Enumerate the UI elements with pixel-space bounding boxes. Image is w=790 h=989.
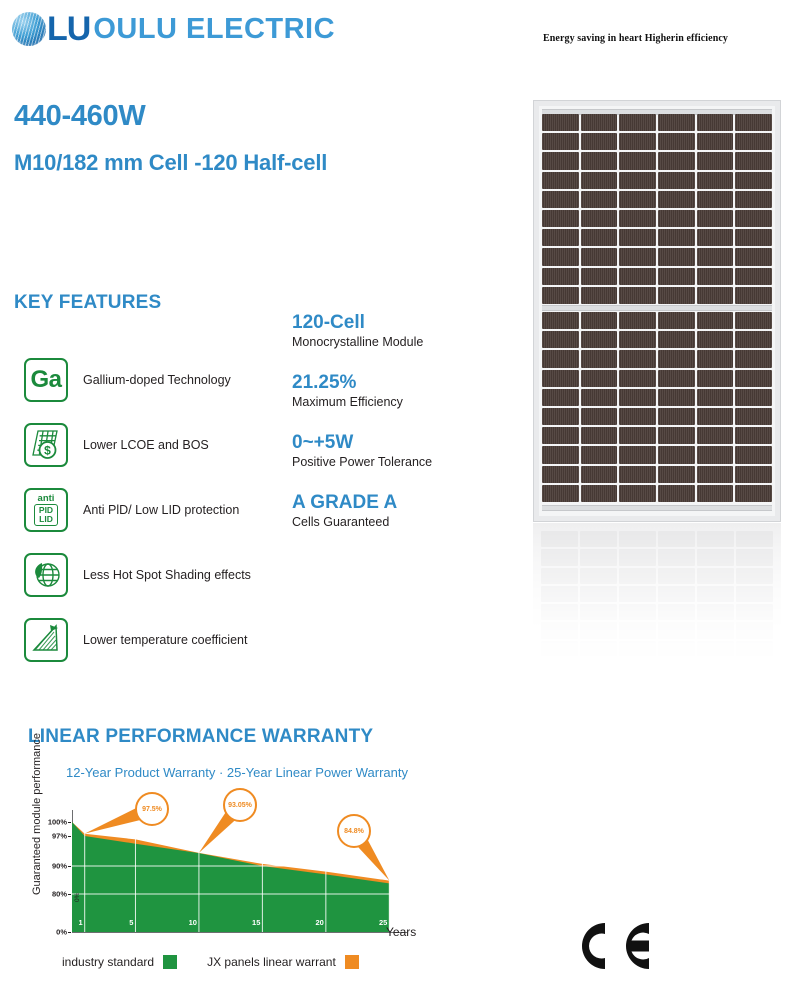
- solar-cell: [581, 229, 618, 246]
- solar-cell: [542, 446, 579, 463]
- solar-cell: [619, 191, 656, 208]
- solar-cell: [542, 114, 579, 131]
- solar-cell: [736, 549, 773, 565]
- chart-x-tick-label: 10: [189, 918, 197, 927]
- solar-cell: [619, 549, 656, 565]
- globe-leaf-icon: [24, 553, 68, 597]
- solar-cell: [658, 427, 695, 444]
- solar-cell: [697, 531, 734, 547]
- solar-cell: [735, 408, 772, 425]
- chart-y-tick-mark: [68, 822, 71, 823]
- solar-cell: [581, 485, 618, 502]
- solar-cell: [658, 172, 695, 189]
- solar-cell: [581, 312, 618, 329]
- solar-cell: [735, 191, 772, 208]
- solar-cell: [697, 268, 734, 285]
- spec-cell-count: 120-Cell Monocrystalline Module: [292, 312, 492, 351]
- solar-cell: [619, 210, 656, 227]
- anti-label: anti: [38, 494, 55, 504]
- warranty-chart: Guaranteed module performance 0%80%90%97…: [24, 796, 434, 956]
- legend-item-jx-warrant: JX panels linear warrant: [207, 955, 359, 969]
- feature-anti-pid: anti PID LID Anti PlD/ Low LID protectio…: [24, 488, 294, 532]
- chart-y-tick-mark: [68, 894, 71, 895]
- panel-dollar-icon: $: [24, 423, 68, 467]
- solar-cell: [735, 331, 772, 348]
- chart-y-tick-label: 0%: [56, 928, 67, 937]
- feature-hot-spot: Less Hot Spot Shading effects: [24, 553, 294, 597]
- solar-cell: [658, 312, 695, 329]
- solar-cell: [697, 427, 734, 444]
- product-cell-spec: M10/182 mm Cell -120 Half-cell: [14, 150, 327, 176]
- solar-cell: [658, 568, 695, 584]
- solar-cell: [735, 466, 772, 483]
- spec-value: 21.25%: [292, 372, 492, 394]
- solar-cell: [697, 191, 734, 208]
- solar-cell: [619, 466, 656, 483]
- solar-cell: [542, 408, 579, 425]
- solar-cell: [619, 229, 656, 246]
- feature-temp-coefficient: Lower temperature coefficient: [24, 618, 294, 662]
- key-features-heading: KEY FEATURES: [14, 292, 161, 314]
- solar-cell: [581, 331, 618, 348]
- feature-label: Gallium-doped Technology: [83, 373, 231, 387]
- solar-cell: [658, 229, 695, 246]
- solar-cell: [736, 586, 773, 602]
- chart-legend: industry standard JX panels linear warra…: [62, 955, 389, 969]
- solar-cell: [697, 549, 734, 565]
- solar-cell: [697, 229, 734, 246]
- legend-item-industry-standard: industry standard: [62, 955, 177, 969]
- solar-cell: [658, 604, 695, 620]
- gallium-ga-icon: Ga: [24, 358, 68, 402]
- spec-cell-grade: A GRADE A Cells Guaranteed: [292, 492, 492, 531]
- solar-cell: [658, 622, 695, 638]
- ce-mark: [575, 920, 655, 972]
- solar-cell: [697, 586, 734, 602]
- solar-cell: [542, 287, 579, 304]
- solar-cell: [697, 152, 734, 169]
- solar-cell: [697, 287, 734, 304]
- spec-value: 0~+5W: [292, 432, 492, 454]
- solar-cell: [542, 312, 579, 329]
- solar-cell: [697, 466, 734, 483]
- solar-cell: [581, 350, 618, 367]
- solar-cell: [542, 152, 579, 169]
- chart-y-tick-label: 90%: [52, 862, 67, 871]
- solar-cell: [581, 466, 618, 483]
- solar-cell: [581, 287, 618, 304]
- solar-cell: [697, 133, 734, 150]
- product-power-range: 440-460W: [14, 100, 145, 133]
- logo-company-name: OULU ELECTRIC: [93, 12, 335, 46]
- legend-label: industry standard: [62, 955, 154, 969]
- solar-cell: [619, 370, 656, 387]
- solar-cell: [580, 568, 617, 584]
- solar-cell: [658, 191, 695, 208]
- solar-cell: [542, 248, 579, 265]
- solar-cell: [658, 586, 695, 602]
- solar-cell: [619, 331, 656, 348]
- solar-cell: [697, 248, 734, 265]
- solar-cell: [619, 641, 656, 657]
- solar-cell: [581, 152, 618, 169]
- solar-cell: [541, 531, 578, 547]
- solar-cell: [697, 350, 734, 367]
- panel-cell-grid-bottom: [542, 312, 772, 502]
- solar-cell: [697, 312, 734, 329]
- solar-cell: [697, 114, 734, 131]
- solar-cell: [658, 549, 695, 565]
- spec-value: A GRADE A: [292, 492, 492, 514]
- solar-cell: [619, 248, 656, 265]
- solar-cell: [735, 133, 772, 150]
- solar-cell: [580, 531, 617, 547]
- solar-cell: [658, 287, 695, 304]
- chart-x-tick-label: 20: [316, 918, 324, 927]
- chart-y-tick-label: 80%: [52, 890, 67, 899]
- solar-cell: [658, 641, 695, 657]
- chart-x-tick-label: 5: [129, 918, 133, 927]
- solar-cell: [619, 531, 656, 547]
- solar-cell: [619, 172, 656, 189]
- solar-cell: [542, 172, 579, 189]
- solar-cell: [658, 370, 695, 387]
- solar-cell: [735, 350, 772, 367]
- solar-cell: [542, 210, 579, 227]
- legend-swatch: [345, 955, 359, 969]
- solar-cell: [619, 114, 656, 131]
- chart-y-axis-title: Guaranteed module performance: [31, 745, 43, 895]
- brand-logo: LU OULU ELECTRIC: [12, 12, 335, 46]
- solar-cell: [697, 172, 734, 189]
- solar-cell: [697, 568, 734, 584]
- panel-busbar-mid: [542, 305, 772, 311]
- solar-cell: [697, 604, 734, 620]
- solar-cell: [581, 427, 618, 444]
- solar-cell: [542, 370, 579, 387]
- temperature-coefficient-icon: [24, 618, 68, 662]
- solar-cell: [658, 152, 695, 169]
- solar-cell: [619, 586, 656, 602]
- solar-cell: [619, 568, 656, 584]
- solar-cell: [658, 408, 695, 425]
- solar-cell: [541, 586, 578, 602]
- solar-cell: [542, 268, 579, 285]
- solar-cell: [736, 622, 773, 638]
- company-tagline: Energy saving in heart Higherin efficien…: [543, 33, 783, 44]
- solar-cell: [735, 485, 772, 502]
- solar-cell: [658, 248, 695, 265]
- spec-power-tolerance: 0~+5W Positive Power Tolerance: [292, 432, 492, 471]
- solar-cell: [658, 531, 695, 547]
- feature-label: Lower temperature coefficient: [83, 633, 247, 647]
- solar-cell: [580, 622, 617, 638]
- spec-label: Monocrystalline Module: [292, 334, 492, 351]
- solar-cell: [542, 229, 579, 246]
- solar-cell: [619, 427, 656, 444]
- solar-cell: [658, 485, 695, 502]
- solar-cell: [581, 389, 618, 406]
- key-features-list: Ga Gallium-doped Technology $ Lower LCOE…: [24, 358, 294, 683]
- solar-cell: [581, 268, 618, 285]
- chart-y-tick-mark: [68, 866, 71, 867]
- solar-cell: [735, 312, 772, 329]
- solar-cell: [735, 370, 772, 387]
- anti-pid-lid-icon: anti PID LID: [24, 488, 68, 532]
- globe-sphere-icon: [12, 12, 46, 46]
- legend-label: JX panels linear warrant: [207, 955, 336, 969]
- chart-x-zero-note: 0%: [74, 893, 81, 902]
- solar-cell: [697, 370, 734, 387]
- solar-cell: [581, 446, 618, 463]
- lid-label: LID: [39, 515, 53, 524]
- panel-reflection: [533, 523, 781, 663]
- solar-cell: [697, 408, 734, 425]
- solar-cell: [581, 191, 618, 208]
- solar-cell: [619, 446, 656, 463]
- solar-cell: [580, 641, 617, 657]
- chart-x-axis-line: [72, 932, 407, 933]
- solar-cell: [581, 408, 618, 425]
- solar-cell: [619, 485, 656, 502]
- solar-cell: [542, 191, 579, 208]
- solar-cell: [697, 210, 734, 227]
- solar-cell: [736, 568, 773, 584]
- chart-annotation-bubble: 93.05%: [223, 788, 257, 822]
- feature-lcoe: $ Lower LCOE and BOS: [24, 423, 294, 467]
- solar-cell: [697, 389, 734, 406]
- solar-cell: [658, 350, 695, 367]
- spec-highlights: 120-Cell Monocrystalline Module 21.25% M…: [292, 312, 492, 552]
- legend-swatch: [163, 955, 177, 969]
- solar-cell: [735, 427, 772, 444]
- solar-cell: [542, 133, 579, 150]
- solar-cell: [736, 604, 773, 620]
- gallium-ga-glyph: Ga: [26, 360, 66, 400]
- solar-cell: [619, 604, 656, 620]
- solar-cell: [619, 152, 656, 169]
- solar-cell: [735, 446, 772, 463]
- solar-cell: [541, 604, 578, 620]
- solar-cell: [581, 210, 618, 227]
- solar-cell: [735, 210, 772, 227]
- solar-cell: [619, 350, 656, 367]
- solar-cell: [619, 312, 656, 329]
- solar-cell: [697, 485, 734, 502]
- panel-reflection-grid: [541, 531, 773, 657]
- solar-cell: [542, 427, 579, 444]
- spec-label: Cells Guaranteed: [292, 514, 492, 531]
- solar-cell: [581, 370, 618, 387]
- svg-text:$: $: [44, 444, 51, 458]
- solar-cell: [541, 549, 578, 565]
- feature-label: Less Hot Spot Shading effects: [83, 568, 251, 582]
- feature-label: Lower LCOE and BOS: [83, 438, 209, 452]
- solar-cell: [581, 172, 618, 189]
- chart-y-tick-label: 97%: [52, 832, 67, 841]
- chart-x-tick-label: 1: [79, 918, 83, 927]
- solar-cell: [735, 287, 772, 304]
- chart-x-axis-title: Years: [386, 925, 416, 939]
- solar-cell: [619, 133, 656, 150]
- panel-busbar-bottom: [542, 505, 772, 511]
- solar-cell: [581, 114, 618, 131]
- spec-efficiency: 21.25% Maximum Efficiency: [292, 372, 492, 411]
- solar-cell: [658, 210, 695, 227]
- solar-cell: [735, 172, 772, 189]
- solar-cell: [658, 114, 695, 131]
- solar-cell: [541, 622, 578, 638]
- chart-y-tick-mark: [68, 932, 71, 933]
- solar-cell: [697, 641, 734, 657]
- solar-cell: [735, 152, 772, 169]
- solar-cell: [735, 248, 772, 265]
- solar-cell: [697, 331, 734, 348]
- solar-cell: [580, 549, 617, 565]
- spec-label: Maximum Efficiency: [292, 394, 492, 411]
- solar-cell: [658, 466, 695, 483]
- chart-y-tick-mark: [68, 836, 71, 837]
- solar-cell: [736, 641, 773, 657]
- solar-cell: [697, 622, 734, 638]
- chart-annotation-bubble: 84.8%: [337, 814, 371, 848]
- solar-cell: [542, 485, 579, 502]
- solar-cell: [542, 350, 579, 367]
- solar-cell: [735, 114, 772, 131]
- warranty-subheading: 12-Year Product Warranty · 25-Year Linea…: [66, 765, 408, 780]
- solar-cell: [619, 408, 656, 425]
- warranty-heading: LINEAR PERFORMANCE WARRANTY: [28, 726, 373, 748]
- solar-cell: [619, 622, 656, 638]
- chart-x-tick-label: 15: [252, 918, 260, 927]
- solar-cell: [658, 389, 695, 406]
- solar-cell: [581, 248, 618, 265]
- solar-cell: [619, 268, 656, 285]
- solar-cell: [736, 531, 773, 547]
- solar-cell: [542, 389, 579, 406]
- solar-cell: [735, 229, 772, 246]
- solar-cell: [619, 287, 656, 304]
- feature-gallium: Ga Gallium-doped Technology: [24, 358, 294, 402]
- solar-cell: [658, 268, 695, 285]
- solar-cell: [542, 466, 579, 483]
- solar-cell: [735, 389, 772, 406]
- spec-value: 120-Cell: [292, 312, 492, 334]
- solar-cell: [735, 268, 772, 285]
- solar-cell: [541, 568, 578, 584]
- chart-annotation-bubble: 97.5%: [135, 792, 169, 826]
- solar-cell: [697, 446, 734, 463]
- solar-cell: [541, 641, 578, 657]
- spec-label: Positive Power Tolerance: [292, 454, 492, 471]
- feature-label: Anti PlD/ Low LID protection: [83, 503, 239, 517]
- solar-cell: [619, 389, 656, 406]
- chart-y-tick-label: 100%: [48, 818, 67, 827]
- solar-cell: [542, 331, 579, 348]
- page-header: LU OULU ELECTRIC Energy saving in heart …: [0, 0, 790, 70]
- solar-panel-photo: [533, 100, 781, 522]
- solar-cell: [658, 331, 695, 348]
- solar-cell: [581, 133, 618, 150]
- logo-lu-text: LU: [47, 12, 90, 46]
- panel-cell-grid-top: [542, 114, 772, 304]
- solar-cell: [580, 586, 617, 602]
- solar-cell: [580, 604, 617, 620]
- solar-cell: [658, 133, 695, 150]
- solar-cell: [658, 446, 695, 463]
